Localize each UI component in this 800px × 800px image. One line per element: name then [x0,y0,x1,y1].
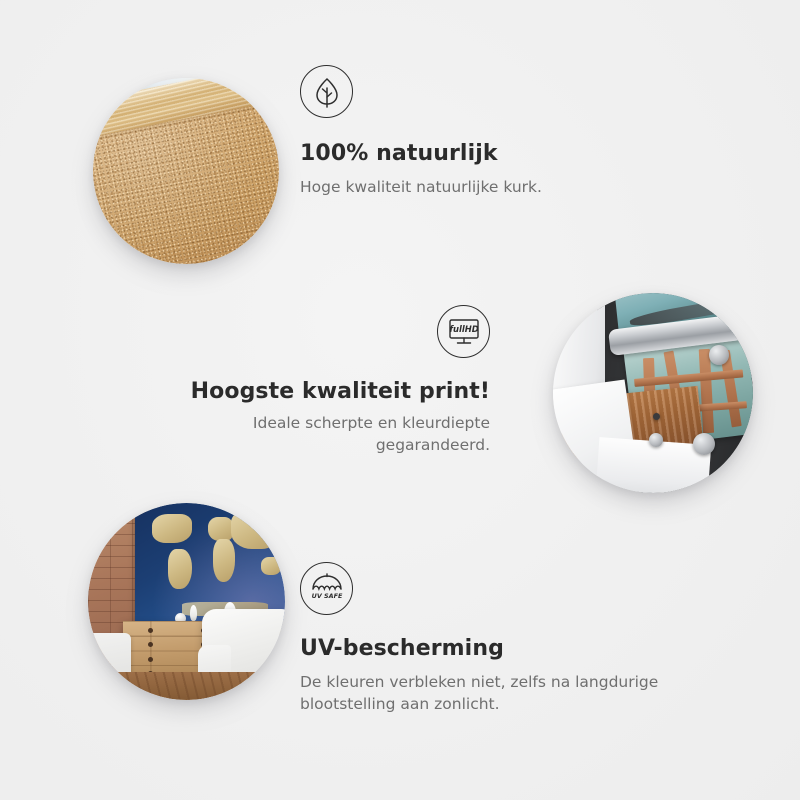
uv-safe-umbrella-icon: UV SAFE [300,562,353,615]
leaf-icon [300,65,353,118]
fullhd-monitor-icon: fullHD [437,305,490,358]
feature-title-natural: 100% natuurlijk [300,140,700,168]
interior-room-image [88,503,285,700]
feature-block-uv: UV SAFE UV-bescherming De kleuren verble… [300,562,720,715]
feature-description-print: Ideale scherpte en kleurdiepte gegarande… [190,412,490,457]
press-bolt [653,413,660,420]
feature-description-uv: De kleuren verbleken niet, zelfs na lang… [300,671,720,716]
feature-graphic-stage: 100% natuurlijk Hoge kwaliteit natuurlij… [0,0,800,800]
uv-safe-label: UV SAFE [311,591,342,599]
feature-block-print: fullHD Hoogste kwaliteit print! Ideale s… [190,305,490,456]
wooden-floor [88,672,285,700]
feature-description-natural: Hoge kwaliteit natuurlijke kurk. [300,176,700,198]
press-knob-center [649,433,663,447]
press-knob-lower [693,433,715,455]
cork-texture-image [93,78,279,264]
feature-title-print: Hoogste kwaliteit print! [190,378,490,406]
printing-press-image [553,293,753,493]
feature-title-uv: UV-bescherming [300,635,720,663]
press-knob-upper [709,345,729,365]
feature-block-natural: 100% natuurlijk Hoge kwaliteit natuurlij… [300,65,700,198]
fullhd-label: fullHD [449,324,478,334]
